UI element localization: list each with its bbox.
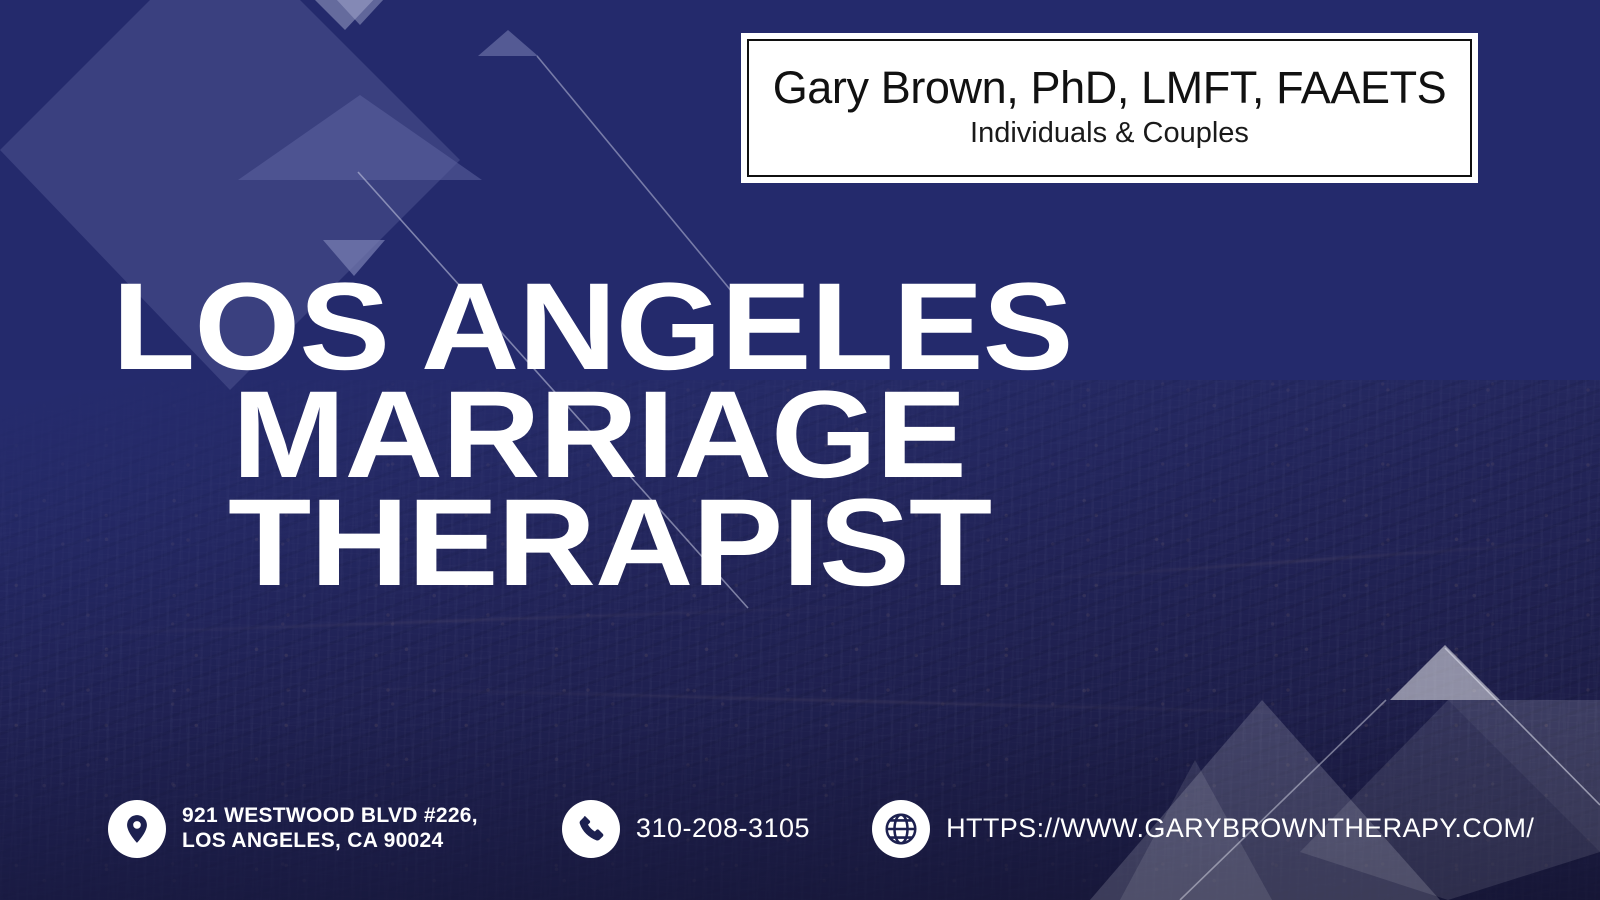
triangle-shape-upper-small xyxy=(478,30,538,56)
map-pin-icon xyxy=(108,800,166,858)
contact-phone[interactable]: 310-208-3105 xyxy=(562,800,810,858)
address-text: 921 WESTWOOD BLVD #226, LOS ANGELES, CA … xyxy=(182,804,478,854)
globe-icon xyxy=(872,800,930,858)
triangle-shape-bottom-right-mid xyxy=(1390,645,1500,700)
logo-plaque: Gary Brown, PhD, LMFT, FAAETS Individual… xyxy=(741,33,1478,183)
practitioner-name: Gary Brown, PhD, LMFT, FAAETS xyxy=(773,65,1447,111)
website-url: HTTPS://WWW.GARYBROWNTHERAPY.COM/ xyxy=(946,813,1534,845)
contact-website[interactable]: HTTPS://WWW.GARYBROWNTHERAPY.COM/ xyxy=(872,800,1534,858)
contact-address: 921 WESTWOOD BLVD #226, LOS ANGELES, CA … xyxy=(108,800,478,858)
contact-bar: 921 WESTWOOD BLVD #226, LOS ANGELES, CA … xyxy=(108,800,1534,858)
phone-icon xyxy=(562,800,620,858)
phone-number: 310-208-3105 xyxy=(636,813,810,845)
practitioner-tagline: Individuals & Couples xyxy=(970,115,1249,151)
banner-canvas: Gary Brown, PhD, LMFT, FAAETS Individual… xyxy=(0,0,1600,900)
logo-plaque-inner-border: Gary Brown, PhD, LMFT, FAAETS Individual… xyxy=(747,39,1472,177)
address-line-1: 921 WESTWOOD BLVD #226, xyxy=(182,804,478,829)
headline-line-3: THERAPIST xyxy=(228,488,991,600)
address-line-2: LOS ANGELES, CA 90024 xyxy=(182,829,478,854)
